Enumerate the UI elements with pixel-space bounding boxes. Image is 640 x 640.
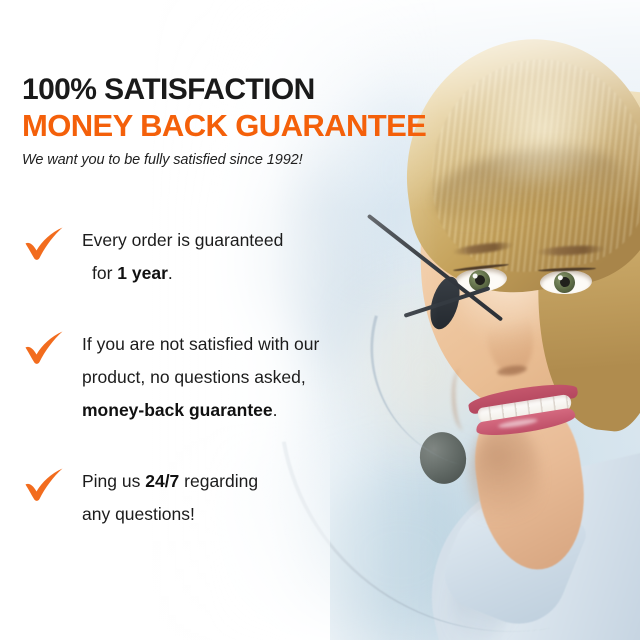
headline-line-1: 100% SATISFACTION: [22, 72, 426, 108]
headline-block: 100% SATISFACTION MONEY BACK GUARANTEE W…: [22, 72, 426, 168]
benefit-emphasis: 1 year: [117, 263, 168, 283]
tagline: We want you to be fully satisfied since …: [22, 152, 426, 168]
list-item-text: If you are not satisfied with our produc…: [82, 326, 418, 427]
list-item: If you are not satisfied with our produc…: [18, 326, 418, 427]
benefit-text: .: [273, 400, 278, 420]
orange-checkmark-icon: [22, 465, 66, 505]
list-item: Ping us 24/7 regarding any questions!: [18, 463, 418, 531]
benefit-text: for: [92, 263, 117, 283]
benefit-text: regarding: [179, 471, 258, 491]
benefit-emphasis: 24/7: [145, 471, 179, 491]
benefit-text: Ping us: [82, 471, 145, 491]
benefits-list: Every order is guaranteed for 1 year. If…: [18, 222, 418, 567]
money-back-guarantee-banner: 100% SATISFACTION MONEY BACK GUARANTEE W…: [0, 0, 640, 640]
benefit-line: Ping us 24/7 regarding: [82, 465, 418, 498]
benefit-text: .: [168, 263, 173, 283]
benefit-emphasis: money-back guarantee: [82, 400, 273, 420]
list-item-text: Ping us 24/7 regarding any questions!: [82, 463, 418, 531]
benefit-line: for 1 year.: [82, 257, 418, 290]
headline-line-2: MONEY BACK GUARANTEE: [22, 108, 426, 144]
benefit-line: If you are not satisfied with our: [82, 328, 418, 361]
banner-content: 100% SATISFACTION MONEY BACK GUARANTEE W…: [0, 0, 640, 640]
list-item: Every order is guaranteed for 1 year.: [18, 222, 418, 290]
benefit-line: product, no questions asked,: [82, 361, 418, 394]
list-item-text: Every order is guaranteed for 1 year.: [82, 222, 418, 290]
benefit-line: Every order is guaranteed: [82, 224, 418, 257]
benefit-line: any questions!: [82, 498, 418, 531]
orange-checkmark-icon: [22, 224, 66, 264]
benefit-line: money-back guarantee.: [82, 394, 418, 427]
orange-checkmark-icon: [22, 328, 66, 368]
